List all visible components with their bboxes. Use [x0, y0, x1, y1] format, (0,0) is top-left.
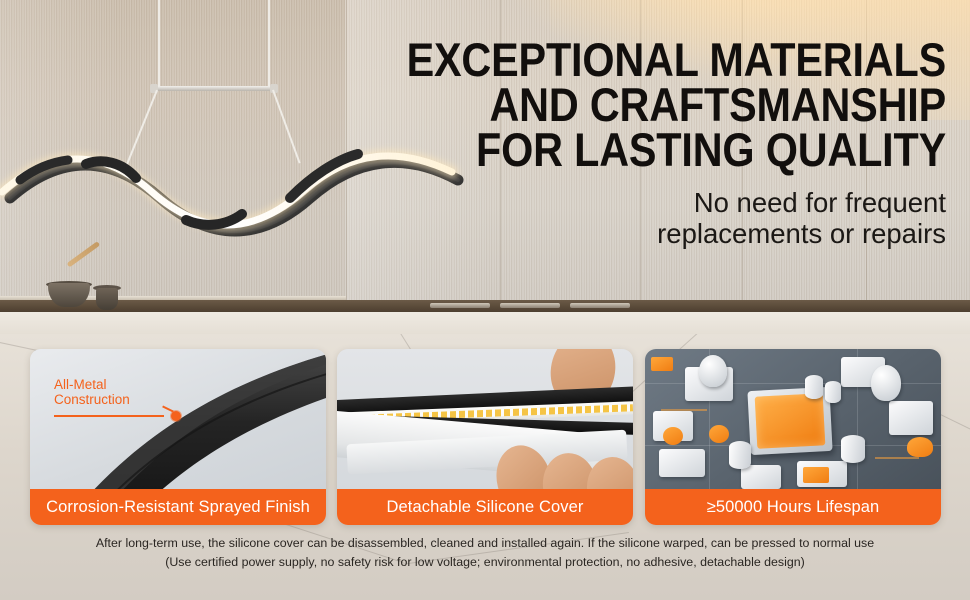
panel-lifespan-caption: ≥50000 Hours Lifespan — [645, 489, 941, 525]
headline-line-1: EXCEPTIONAL MATERIALS — [400, 38, 946, 83]
pcb-dome-1 — [699, 355, 727, 387]
pcb-dome-2 — [871, 365, 901, 401]
feature-panel-metal[interactable]: All-Metal Construction Corrosion-Resista… — [30, 349, 326, 525]
pcb-block-5 — [889, 401, 933, 435]
panel-lifespan-media — [645, 349, 941, 489]
product-feature-banner: EXCEPTIONAL MATERIALS AND CRAFTSMANSHIP … — [0, 0, 970, 600]
pcb-cylinder-3 — [729, 441, 751, 469]
disclaimer-line-2: (Use certified power supply, no safety r… — [0, 553, 970, 572]
hero-scene: EXCEPTIONAL MATERIALS AND CRAFTSMANSHIP … — [0, 0, 970, 334]
subheadline-line-1: No need for frequent — [326, 187, 946, 218]
feature-panel-silicone[interactable]: Detachable Silicone Cover — [337, 349, 633, 525]
feature-panel-row: All-Metal Construction Corrosion-Resista… — [0, 349, 970, 525]
feature-panel-lifespan[interactable]: ≥50000 Hours Lifespan — [645, 349, 941, 525]
pcb-cylinder-4 — [841, 435, 865, 463]
subheadline-line-2: replacements or repairs — [326, 218, 946, 249]
pcb-orange-chip-3 — [709, 425, 729, 443]
callout-target-dot — [171, 411, 181, 421]
disclaimer-line-1: After long-term use, the silicone cover … — [0, 534, 970, 553]
callout-leader-line — [54, 415, 164, 417]
pcb-block-3 — [659, 449, 705, 477]
pcb-block-7 — [741, 465, 781, 489]
cabinet-lip-c — [570, 303, 630, 308]
processor-die — [755, 393, 826, 448]
panel-metal-media: All-Metal Construction — [30, 349, 326, 489]
pcb-orange-chip-2 — [663, 427, 683, 445]
pcb-orange-chip-1 — [651, 357, 673, 371]
counter-top — [0, 312, 970, 334]
subheadline: No need for frequent replacements or rep… — [326, 187, 946, 250]
panel-silicone-caption: Detachable Silicone Cover — [337, 489, 633, 525]
cabinet-lip-a — [430, 303, 490, 308]
ceiling-mount-bar — [152, 86, 277, 91]
disclaimer-text: After long-term use, the silicone cover … — [0, 534, 970, 571]
pcb-cylinder-1 — [805, 375, 823, 399]
hero-copy: EXCEPTIONAL MATERIALS AND CRAFTSMANSHIP … — [326, 38, 946, 249]
panel-metal-caption: Corrosion-Resistant Sprayed Finish — [30, 489, 326, 525]
pcb-orange-chip-5 — [803, 467, 829, 483]
pcb-orange-chip-4 — [907, 437, 933, 457]
cabinet-lip-b — [500, 303, 560, 308]
callout-all-metal-label: All-Metal Construction — [54, 377, 130, 407]
pcb-cylinder-2 — [825, 381, 841, 403]
headline-line-3: FOR LASTING QUALITY — [400, 128, 946, 173]
suspension-cable-up-right — [268, 0, 270, 88]
panel-silicone-media — [337, 349, 633, 489]
headline-line-2: AND CRAFTSMANSHIP — [400, 83, 946, 128]
pcb-trace-orange-3 — [875, 457, 919, 459]
suspension-cable-up-left — [158, 0, 160, 88]
